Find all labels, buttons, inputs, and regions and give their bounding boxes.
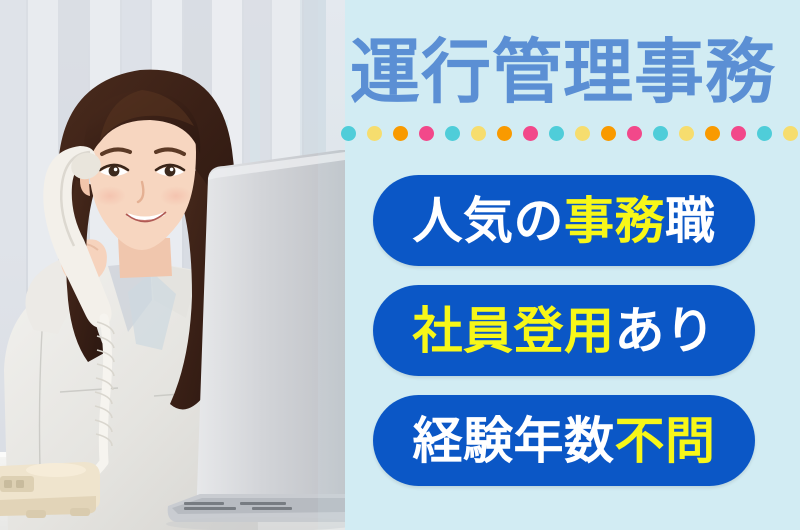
divider-dot — [757, 126, 772, 141]
divider-dot — [549, 126, 564, 141]
divider-dot — [393, 126, 408, 141]
badge-fulltime-conversion: 社員登用あり — [373, 285, 755, 376]
badge-text-segment: あり — [615, 306, 716, 356]
badge-text-segment: 事務 — [564, 196, 665, 246]
badge-fulltime-conversion-text: 社員登用あり — [413, 306, 716, 356]
divider-dot — [523, 126, 538, 141]
divider-dot — [419, 126, 434, 141]
divider-dot — [601, 126, 616, 141]
divider-dot — [783, 126, 798, 141]
divider-dot — [653, 126, 668, 141]
divider-dot — [341, 126, 356, 141]
badge-office-job-text: 人気の事務職 — [413, 196, 716, 246]
badge-no-experience-required: 経験年数不問 — [373, 395, 755, 486]
badge-text-segment: 職 — [665, 196, 716, 246]
dot-divider — [341, 124, 793, 142]
badge-no-experience-required-text: 経験年数不問 — [413, 416, 716, 466]
divider-dot — [705, 126, 720, 141]
badge-office-job: 人気の事務職 — [373, 175, 755, 266]
divider-dot — [497, 126, 512, 141]
badge-text-segment: 経験年数 — [413, 416, 615, 466]
badge-text-segment: 人気の — [413, 196, 565, 246]
badge-text-segment: 不問 — [615, 416, 716, 466]
divider-dot — [731, 126, 746, 141]
divider-dot — [445, 126, 460, 141]
divider-dot — [627, 126, 642, 141]
divider-dot — [471, 126, 486, 141]
badge-text-segment: 社員登用 — [413, 306, 615, 356]
job-ad-banner: 運行管理事務 人気の事務職 社員登用あり 経験年数不問 — [0, 0, 800, 530]
office-worker-on-phone-photo — [0, 0, 345, 530]
divider-dot — [575, 126, 590, 141]
page-title: 運行管理事務 — [350, 26, 790, 118]
divider-dot — [367, 126, 382, 141]
divider-dot — [679, 126, 694, 141]
